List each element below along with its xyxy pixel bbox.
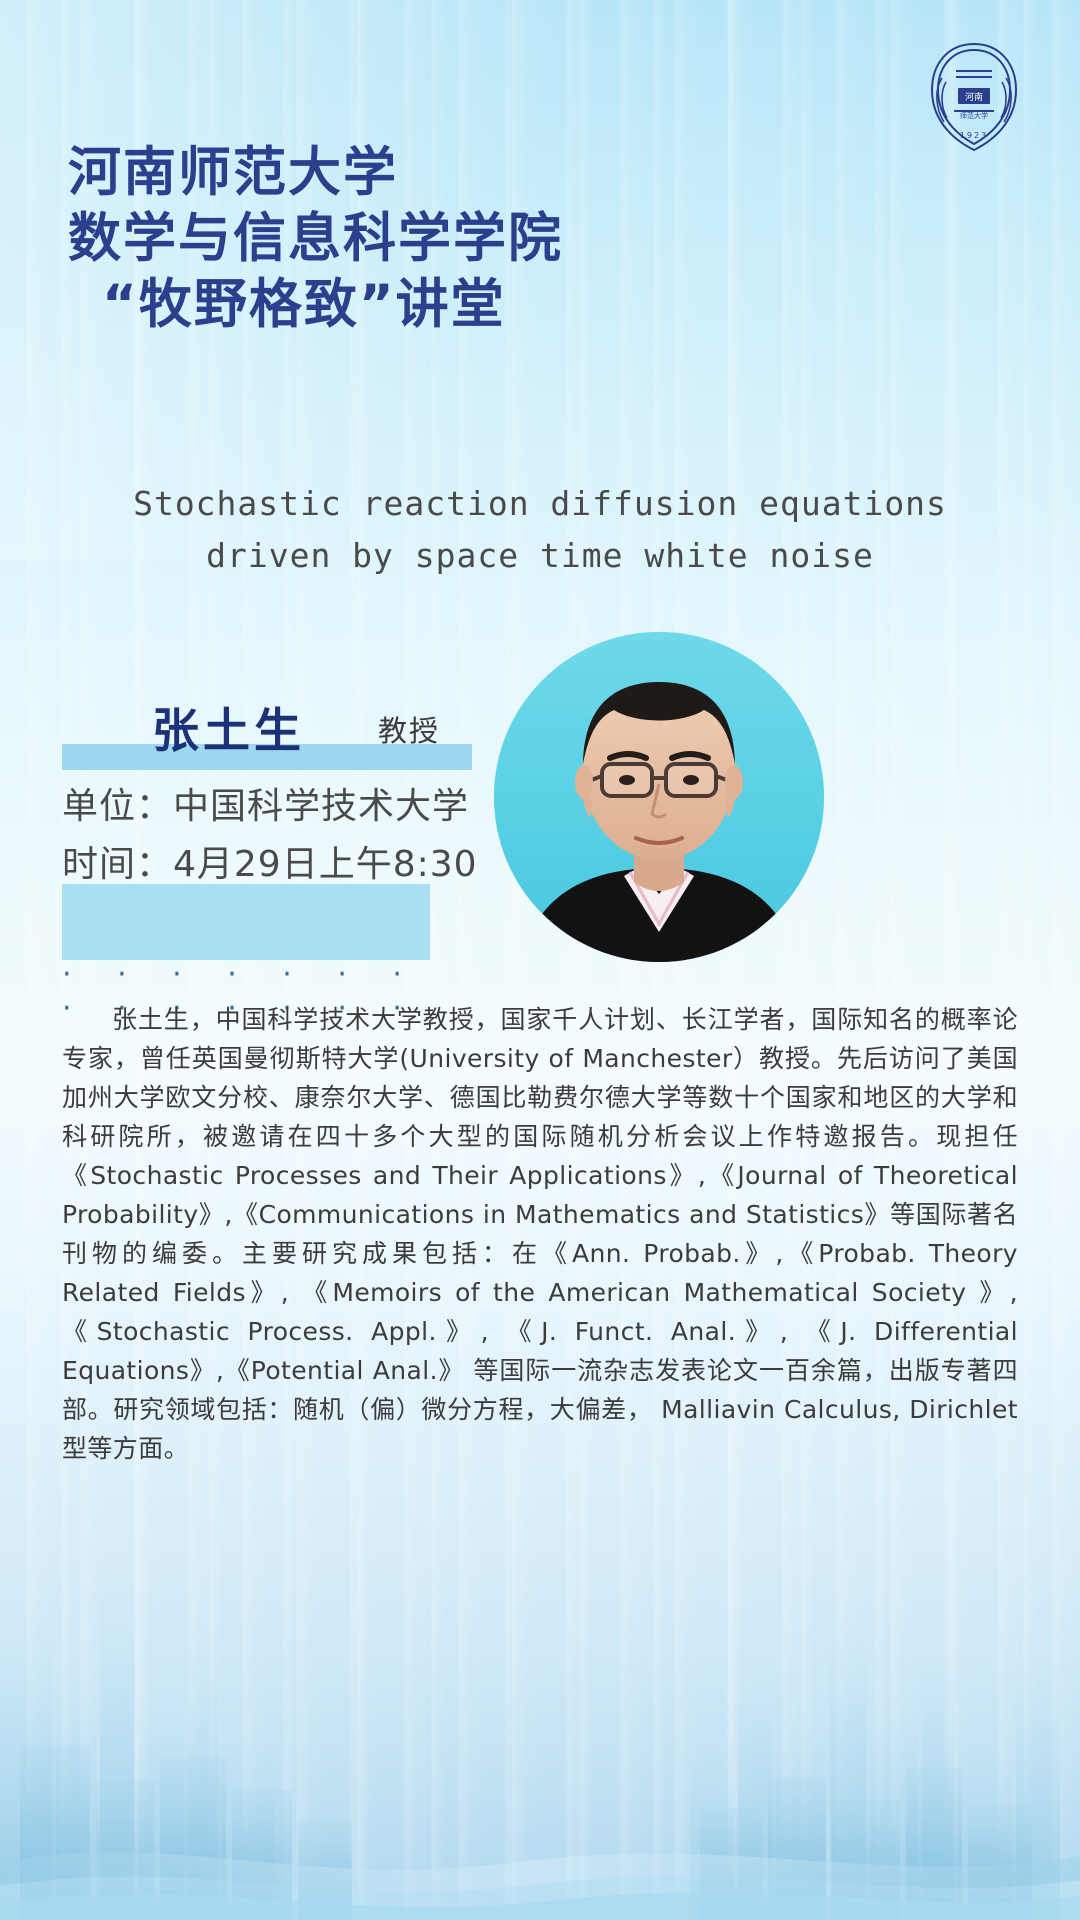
english-title-line-1: Stochastic reaction diffusion equations [60,478,1020,530]
org-line-2: 数学与信息科学学院 [68,206,968,272]
dot-row-1: · · · · · · · [62,958,582,992]
english-title-line-2: driven by space time white noise [60,530,1020,582]
org-line-1: 河南师范大学 [68,140,968,206]
university-logo: 河南 师范大学 1923 [920,38,1028,156]
poster-root: 河南 师范大学 1923 河南师范大学 数学与信息科学学院 “牧野格致”讲堂 S… [0,0,1080,1920]
speaker-biography: 张土生，中国科学技术大学教授，国家千人计划、长江学者，国际知名的概率论专家，曾任… [62,1000,1018,1468]
lecture-english-title: Stochastic reaction diffusion equations … [60,478,1020,582]
org-line-3: “牧野格致”讲堂 [68,272,968,338]
organization-heading: 河南师范大学 数学与信息科学学院 “牧野格致”讲堂 [68,140,968,338]
speaker-academic-title: 教授 [378,708,440,750]
logo-text-cn: 河南 [965,91,983,103]
accent-block [62,884,430,960]
logo-text-year: 1923 [960,131,988,140]
speaker-name: 张土生 [152,692,305,761]
speaker-photo [494,632,824,962]
biography-text: 张土生，中国科学技术大学教授，国家千人计划、长江学者，国际知名的概率论专家，曾任… [62,1000,1018,1468]
city-skyline-decoration [0,1490,1080,1920]
logo-text-sub: 师范大学 [960,111,988,120]
